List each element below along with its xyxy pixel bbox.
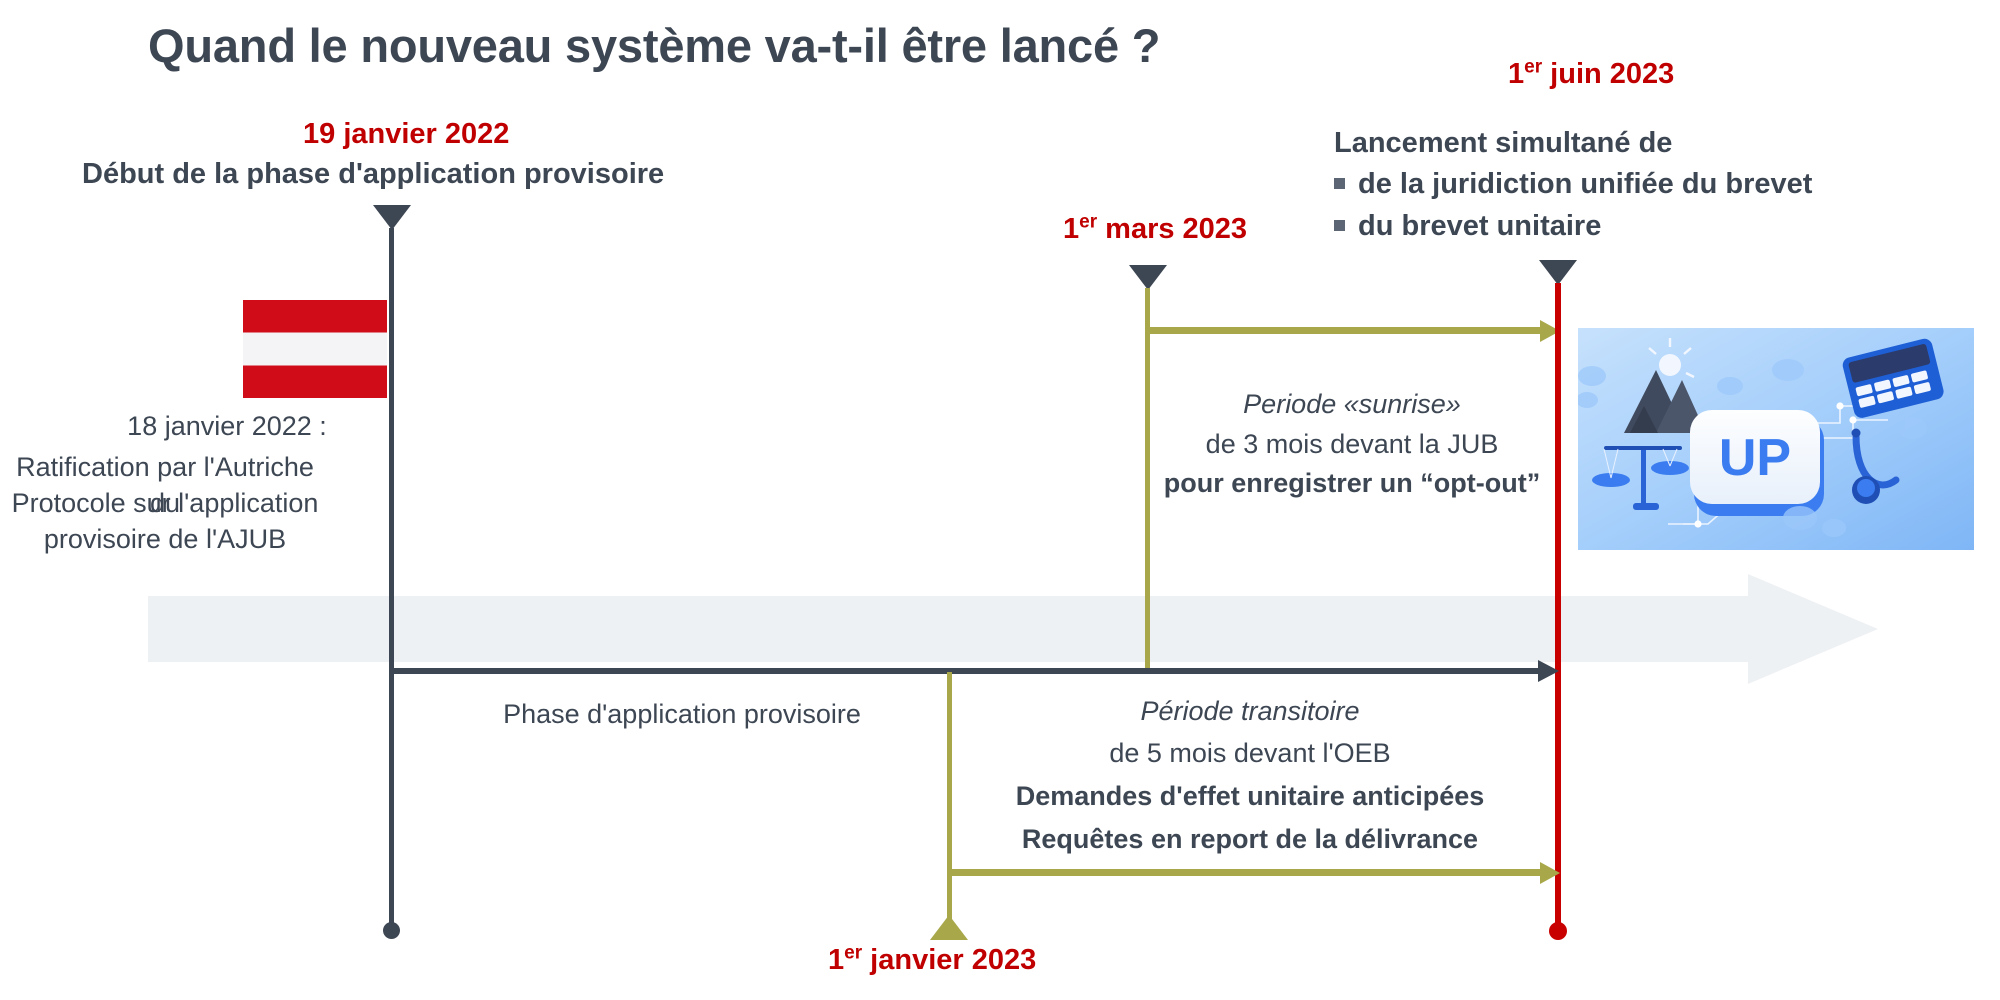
date-prefix: 1 — [1508, 58, 1524, 90]
triangle-down-red-icon — [1539, 260, 1577, 285]
launch-bullet-1-label: de la juridiction unifiée du brevet — [1358, 168, 1812, 200]
date-prefix: 1 — [1063, 213, 1079, 245]
launch-heading: Lancement simultané de — [1334, 127, 1672, 160]
sunrise-period-line3: pour enregistrer un “opt-out” — [1162, 465, 1542, 501]
triangle-up-olive-icon — [930, 915, 968, 940]
timeline-vertical-line-olive-janvier — [947, 672, 952, 924]
unitary-patent-illustration: UP — [1578, 328, 1974, 550]
transitional-period-line2: de 5 mois devant l'OEB — [1000, 735, 1500, 771]
transitional-period-arrow-line — [947, 869, 1545, 876]
launch-bullet-1: de la juridiction unifiée du brevet — [1334, 168, 1812, 201]
austria-ratification-date: 18 janvier 2022 : — [62, 408, 392, 444]
main-timeline-axis-arrowhead-icon — [1538, 660, 1559, 682]
milestone-caption-debut-phase: Début de la phase d'application provisoi… — [82, 158, 664, 191]
milestone-date-1er-mars-2023: 1er mars 2023 — [1063, 213, 1247, 246]
launch-bullet-2: du brevet unitaire — [1334, 210, 1601, 243]
austria-flag-icon — [243, 300, 387, 398]
austria-ratification-line2: Protocole sur l'application — [0, 485, 330, 521]
bullet-square-icon — [1334, 178, 1345, 189]
transitional-period-line4: Requêtes en report de la délivrance — [970, 821, 1530, 857]
triangle-down-navy-icon — [373, 205, 411, 230]
sunrise-period-line2: de 3 mois devant la JUB — [1152, 426, 1552, 462]
main-timeline-axis — [389, 668, 1544, 674]
date-rest: mars 2023 — [1097, 213, 1247, 245]
sunrise-period-arrow-line — [1145, 327, 1545, 334]
date-ordinal-suffix: er — [1524, 56, 1542, 77]
up-logo-text: UP — [1719, 429, 1791, 487]
transitional-period-line1: Période transitoire — [1000, 693, 1500, 729]
austria-ratification-line3: provisoire de l'AJUB — [0, 521, 330, 557]
bullet-square-icon — [1334, 220, 1345, 231]
provisional-phase-label: Phase d'application provisoire — [452, 696, 912, 732]
date-prefix: 1 — [828, 944, 844, 976]
sunrise-period-line1: Periode «sunrise» — [1152, 386, 1552, 422]
milestone-date-1er-juin-2023: 1er juin 2023 — [1508, 58, 1674, 91]
milestone-date-19-janvier-2022: 19 janvier 2022 — [303, 118, 509, 151]
triangle-down-olive-icon-mars — [1129, 265, 1167, 290]
date-ordinal-suffix: er — [1079, 211, 1097, 232]
transitional-period-arrowhead-icon — [1540, 862, 1560, 884]
page-title: Quand le nouveau système va-t-il être la… — [148, 18, 1160, 73]
timeline-vertical-line-olive-mars — [1145, 288, 1150, 674]
date-rest: juin 2023 — [1542, 58, 1674, 90]
timeline-vertical-line-red — [1555, 283, 1561, 933]
milestone-date-1er-janvier-2023: 1er janvier 2023 — [828, 944, 1036, 977]
timeline-end-dot-red — [1549, 922, 1567, 940]
transitional-period-line3: Demandes d'effet unitaire anticipées — [970, 778, 1530, 814]
timeline-vertical-line-navy — [389, 228, 394, 933]
launch-bullet-2-label: du brevet unitaire — [1358, 210, 1601, 242]
timeline-end-dot-navy — [383, 922, 400, 939]
date-rest: janvier 2023 — [862, 944, 1036, 976]
slide-canvas: Quand le nouveau système va-t-il être la… — [0, 0, 2000, 1000]
date-ordinal-suffix: er — [844, 942, 862, 963]
